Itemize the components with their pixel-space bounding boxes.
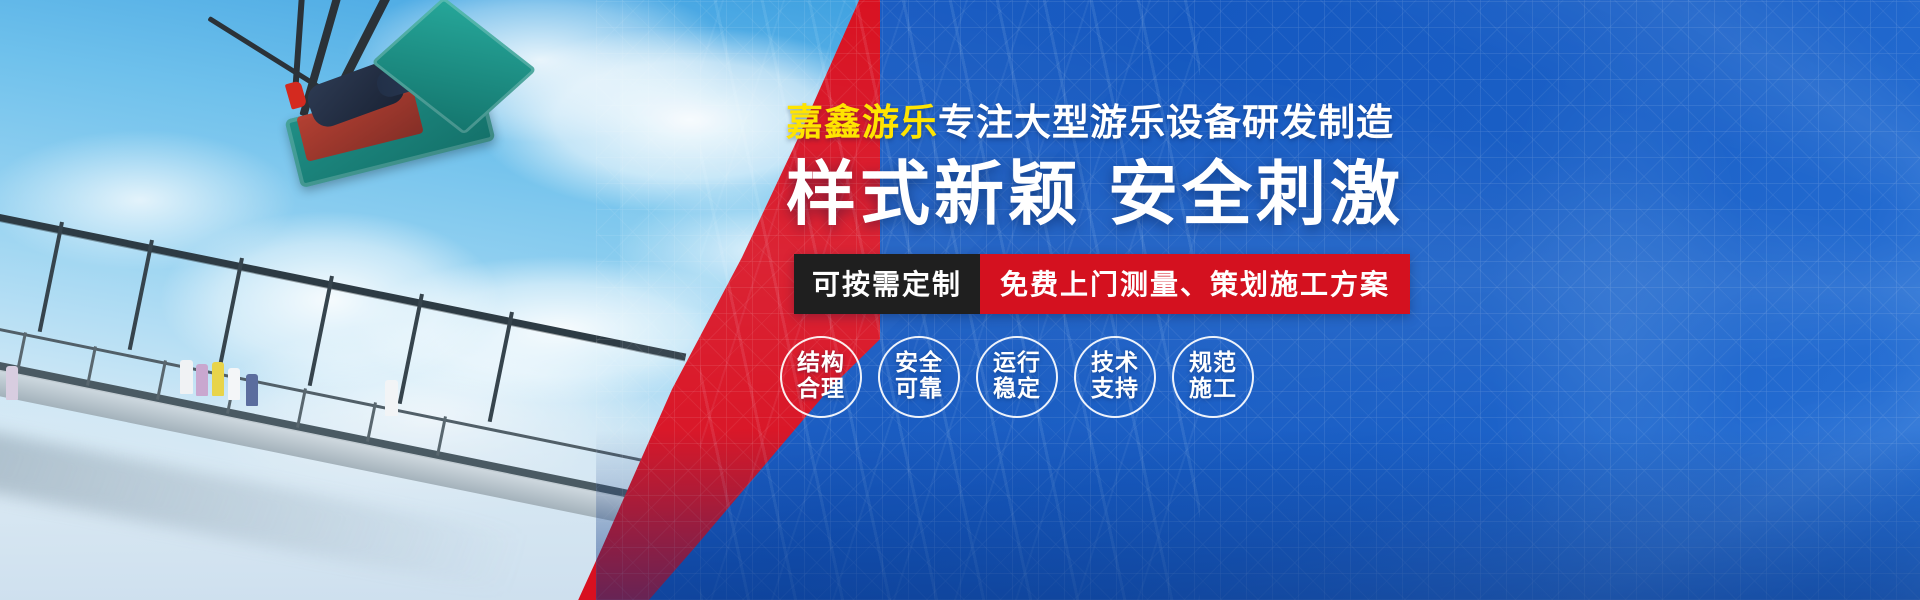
bridge-visitor xyxy=(246,374,258,406)
badge-custom-made[interactable]: 可按需定制 xyxy=(794,254,980,314)
bridge-visitor xyxy=(228,368,240,400)
headline: 样式新颖安全刺激 xyxy=(786,138,1404,239)
headline-left: 样式新颖 xyxy=(786,153,1082,235)
feature-circle-operation[interactable]: 运行 稳定 xyxy=(976,336,1058,418)
bridge-visitor xyxy=(385,380,398,416)
bridge-visitor xyxy=(6,366,18,400)
feature-line-2: 施工 xyxy=(1189,377,1237,403)
bridge-hanger xyxy=(488,312,514,423)
bridge-visitor xyxy=(212,362,224,396)
feature-line-1: 运行 xyxy=(993,351,1041,377)
feature-circle-structure[interactable]: 结构 合理 xyxy=(780,336,862,418)
bridge-visitor xyxy=(196,364,208,396)
feature-circle-row: 结构 合理 安全 可靠 运行 稳定 技术 支持 规范 施工 xyxy=(780,336,1254,418)
badge-free-survey[interactable]: 免费上门测量、策划施工方案 xyxy=(980,254,1410,314)
feature-line-2: 稳定 xyxy=(993,377,1041,403)
feature-circle-safety[interactable]: 安全 可靠 xyxy=(878,336,960,418)
bridge-hanger xyxy=(38,222,64,333)
railing-post xyxy=(436,416,447,456)
railing-post xyxy=(366,402,377,442)
bridge-hanger xyxy=(308,276,334,387)
feature-circle-tech-support[interactable]: 技术 支持 xyxy=(1074,336,1156,418)
bridge-hanger xyxy=(398,294,424,405)
bridge-visitor xyxy=(180,360,193,394)
feature-line-2: 支持 xyxy=(1091,377,1139,403)
feature-line-1: 结构 xyxy=(797,351,845,377)
banner-content: 嘉鑫游乐专注大型游乐设备研发制造 样式新颖安全刺激 可按需定制 免费上门测量、策… xyxy=(780,0,1920,600)
feature-line-1: 技术 xyxy=(1091,351,1139,377)
railing-post xyxy=(296,388,307,428)
feature-line-1: 安全 xyxy=(895,351,943,377)
headline-right: 安全刺激 xyxy=(1108,153,1404,235)
swing-ride xyxy=(180,0,640,290)
badge-row: 可按需定制 免费上门测量、策划施工方案 xyxy=(794,254,1410,314)
bridge-hanger xyxy=(128,240,154,351)
ride-flag xyxy=(285,80,308,109)
feature-line-2: 合理 xyxy=(797,377,845,403)
promo-banner: 嘉鑫游乐专注大型游乐设备研发制造 样式新颖安全刺激 可按需定制 免费上门测量、策… xyxy=(0,0,1920,600)
feature-circle-standard-construction[interactable]: 规范 施工 xyxy=(1172,336,1254,418)
feature-line-1: 规范 xyxy=(1189,351,1237,377)
feature-line-2: 可靠 xyxy=(895,377,943,403)
